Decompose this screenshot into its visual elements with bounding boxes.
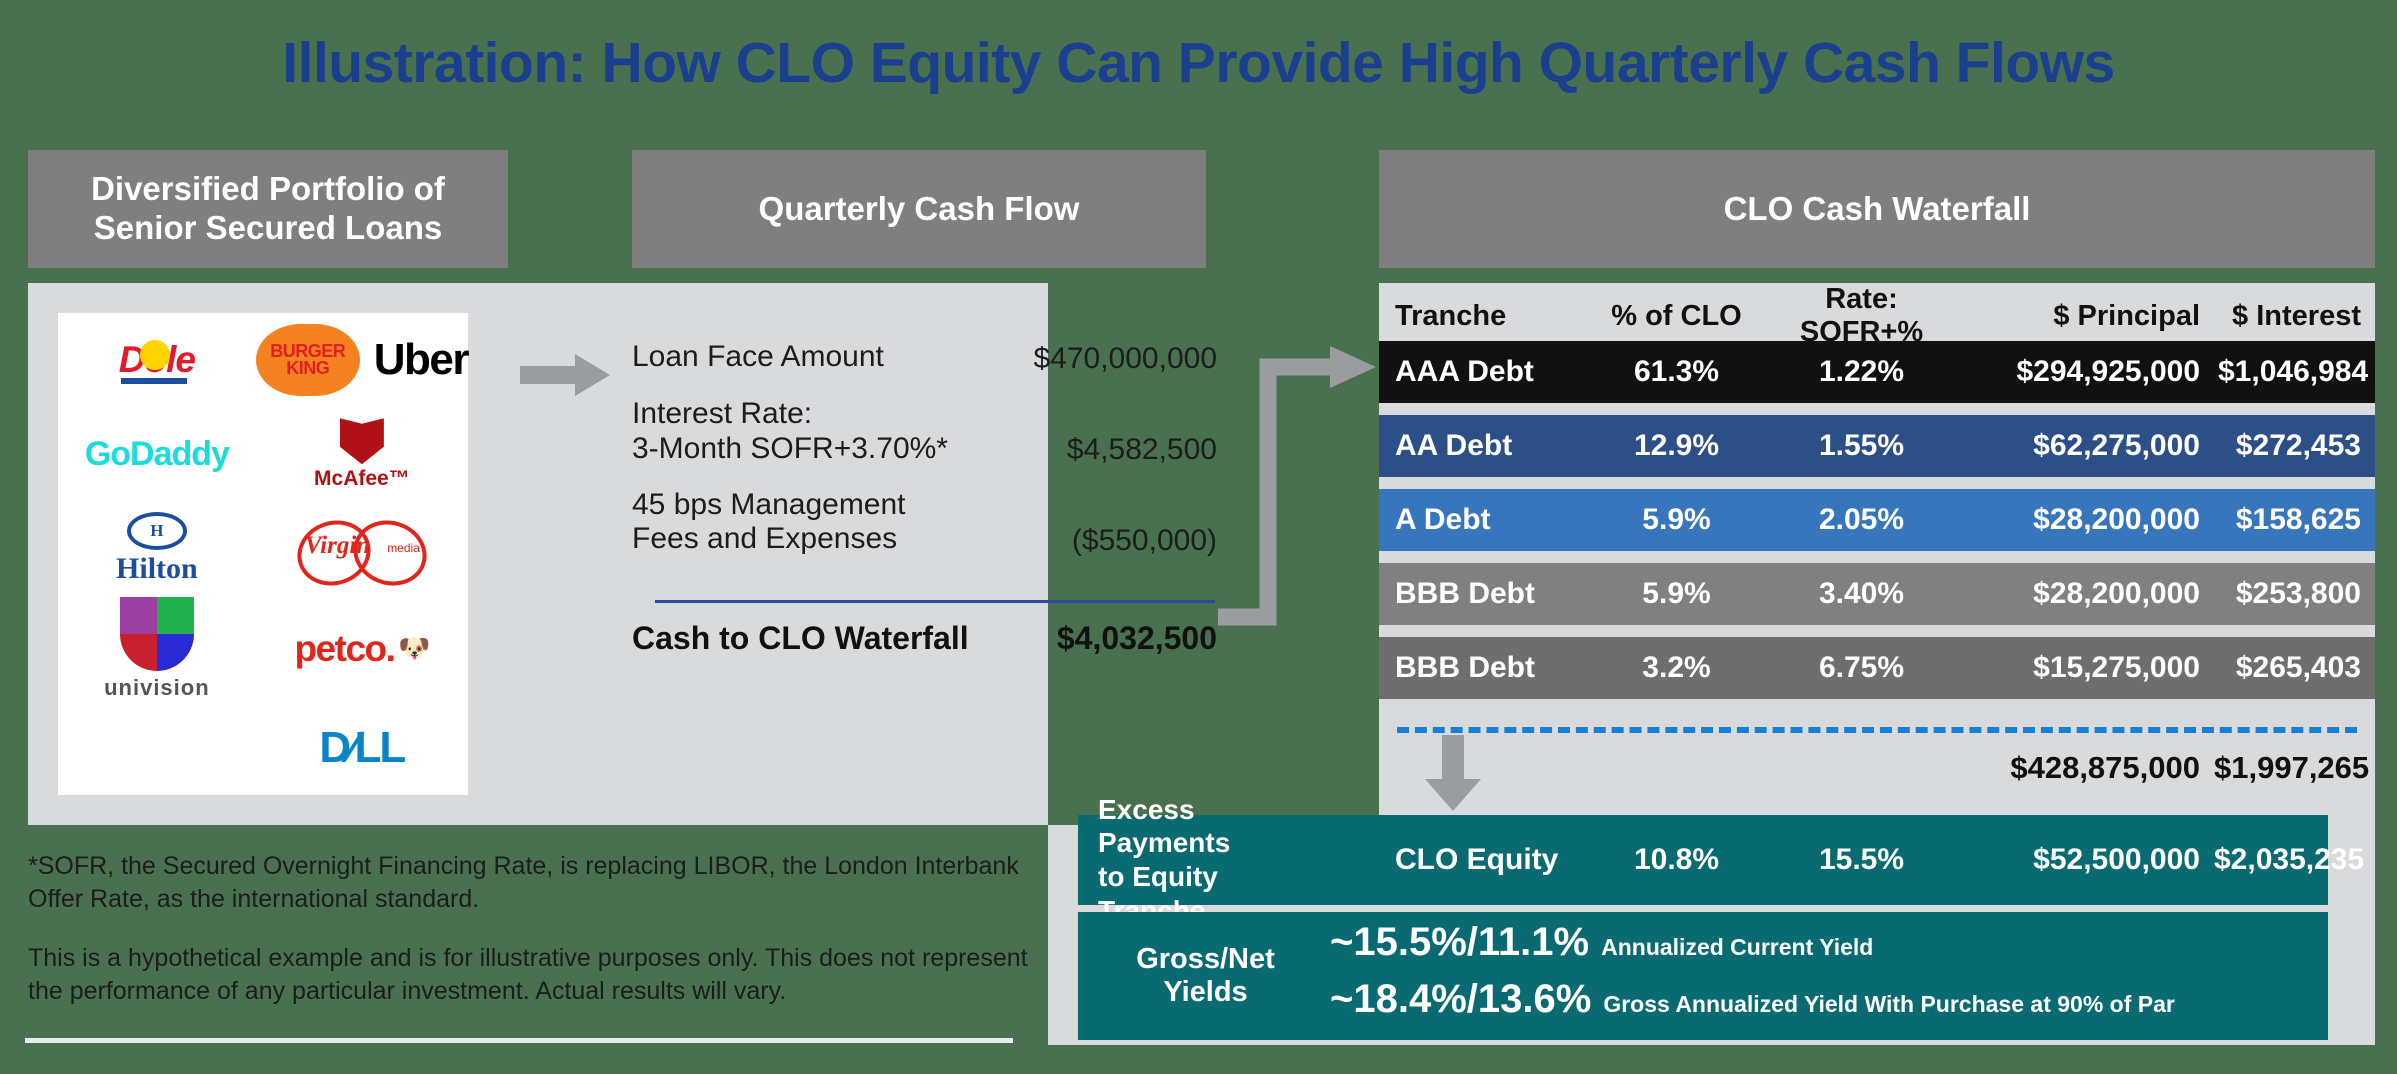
logo-collage: Dole BURGER KING Uber GoDaddy McAfee™ H … — [58, 313, 468, 795]
mcafee-logo: McAfee™ — [256, 408, 468, 503]
cashflow-label-2: Fees and Expenses — [632, 522, 897, 555]
column-header-rate: Rate: SOFR+% — [1759, 283, 1964, 349]
petco-logo: petco.🐶 — [256, 597, 468, 701]
footer-divider — [25, 1038, 1013, 1043]
equity-row: CLO Equity 10.8% 15.5% $52,500,000 $2,03… — [1379, 815, 2375, 905]
equity-cell-pct: 10.8% — [1594, 843, 1759, 877]
equity-cell-rate: 15.5% — [1759, 843, 1964, 877]
footnote-sofr: *SOFR, the Secured Overnight Financing R… — [28, 850, 1028, 916]
table-row: AA Debt 12.9% 1.55% $62,275,000 $272,453 — [1379, 415, 2375, 477]
equity-side-label: Excess Payments to Equity Tranche — [1098, 820, 1298, 900]
yield-value: ~18.4%/13.6% — [1330, 977, 1591, 1022]
totals-interest: $1,997,265 — [2214, 750, 2375, 786]
logo-spacer — [58, 701, 256, 796]
table-row: AAA Debt 61.3% 1.22% $294,925,000 $1,046… — [1379, 341, 2375, 403]
dole-sun-icon — [144, 344, 166, 366]
cell-principal: $28,200,000 — [1964, 503, 2214, 537]
cell-tranche: A Debt — [1379, 503, 1594, 537]
cashflow-total-row: Cash to CLO Waterfall $4,032,500 — [632, 620, 1217, 657]
table-row: BBB Debt 5.9% 3.40% $28,200,000 $253,800 — [1379, 563, 2375, 625]
mcafee-shield-icon — [340, 418, 384, 464]
cell-rate: 1.22% — [1759, 355, 1964, 389]
cell-pct: 3.2% — [1594, 651, 1759, 685]
dell-logo-label: D∕LL — [319, 723, 404, 773]
cell-tranche: AAA Debt — [1379, 355, 1594, 389]
page-title: Illustration: How CLO Equity Can Provide… — [0, 30, 2397, 96]
cell-principal: $294,925,000 — [1964, 355, 2214, 389]
yield-row: ~15.5%/11.1% Annualized Current Yield — [1330, 920, 2330, 965]
totals-principal: $428,875,000 — [1964, 750, 2214, 786]
petco-logo-label: petco. — [294, 628, 394, 670]
cashflow-label-2: 3-Month SOFR+3.70%* — [632, 432, 948, 465]
section-header-waterfall: CLO Cash Waterfall — [1379, 150, 2375, 268]
cashflow-value: $4,582,500 — [1067, 397, 1217, 468]
column-header-tranche: Tranche — [1379, 300, 1594, 333]
cell-principal: $62,275,000 — [1964, 429, 2214, 463]
cell-rate: 1.55% — [1759, 429, 1964, 463]
cell-interest: $158,625 — [2214, 503, 2375, 537]
yields-label: Gross/Net Yields — [1098, 912, 1313, 1040]
table-row: BBB Debt 3.2% 6.75% $15,275,000 $265,403 — [1379, 637, 2375, 699]
dole-bar-icon — [121, 378, 187, 384]
cell-principal: $15,275,000 — [1964, 651, 2214, 685]
cashflow-row: Loan Face Amount $470,000,000 — [632, 340, 1217, 377]
cell-rate: 3.40% — [1759, 577, 1964, 611]
godaddy-logo: GoDaddy — [58, 408, 256, 503]
cashflow-value: ($550,000) — [1072, 488, 1217, 559]
cell-tranche: BBB Debt — [1379, 577, 1594, 611]
totals-spacer-1 — [1379, 750, 1594, 786]
virgin-media-logo: Virgin media — [256, 502, 468, 597]
uber-logo: Uber — [374, 335, 468, 385]
dole-logo: Dole — [58, 313, 256, 408]
yield-value: ~15.5%/11.1% — [1330, 920, 1589, 965]
godaddy-logo-label: GoDaddy — [85, 435, 229, 474]
burger-king-logo: BURGER KING — [256, 324, 360, 396]
petco-pets-icon: 🐶 — [398, 633, 429, 664]
virgin-media-sublabel: media — [387, 541, 420, 555]
cashflow-label: Loan Face Amount — [632, 340, 884, 373]
cell-tranche: AA Debt — [1379, 429, 1594, 463]
cashflow-row: Interest Rate: 3-Month SOFR+3.70%* $4,58… — [632, 397, 1217, 468]
equity-side-label-line1: Excess Payments — [1098, 793, 1298, 860]
cashflow-total-value: $4,032,500 — [1057, 620, 1217, 657]
cell-pct: 12.9% — [1594, 429, 1759, 463]
yield-description: Annualized Current Yield — [1601, 934, 1873, 961]
hilton-logo: H Hilton — [58, 502, 256, 597]
waterfall-totals-row: $428,875,000 $1,997,265 — [1379, 750, 2375, 786]
cell-pct: 61.3% — [1594, 355, 1759, 389]
cashflow-value: $470,000,000 — [1033, 340, 1217, 377]
cell-interest: $265,403 — [2214, 651, 2375, 685]
hilton-logo-label: Hilton — [116, 552, 198, 586]
footnotes: *SOFR, the Secured Overnight Financing R… — [28, 850, 1028, 1034]
cell-interest: $272,453 — [2214, 429, 2375, 463]
equity-cell-principal: $52,500,000 — [1964, 843, 2214, 877]
header-portfolio-line2: Senior Secured Loans — [91, 209, 445, 248]
univision-logo-label: univision — [104, 675, 210, 701]
totals-spacer-3 — [1759, 750, 1964, 786]
column-header-interest: $ Interest — [2214, 300, 2375, 333]
equity-cell-tranche: CLO Equity — [1379, 843, 1594, 877]
cashflow-list: Loan Face Amount $470,000,000 Interest R… — [632, 340, 1217, 578]
dell-logo: D∕LL — [256, 701, 468, 796]
waterfall-table: Tranche % of CLO Rate: SOFR+% $ Principa… — [1379, 283, 2375, 711]
cell-pct: 5.9% — [1594, 503, 1759, 537]
section-header-portfolio: Diversified Portfolio of Senior Secured … — [28, 150, 508, 268]
burger-king-uber-group: BURGER KING Uber — [256, 313, 468, 408]
totals-spacer-2 — [1594, 750, 1759, 786]
cashflow-divider — [655, 600, 1215, 603]
arrow-portfolio-to-cashflow — [520, 350, 610, 405]
column-header-principal: $ Principal — [1964, 300, 2214, 333]
waterfall-header-row: Tranche % of CLO Rate: SOFR+% $ Principa… — [1379, 283, 2375, 341]
cell-interest: $1,046,984 — [2214, 355, 2375, 389]
equity-cell-interest: $2,035,235 — [2214, 843, 2375, 877]
cashflow-total-label: Cash to CLO Waterfall — [632, 620, 969, 657]
hilton-mark-icon: H — [127, 512, 187, 550]
table-row: A Debt 5.9% 2.05% $28,200,000 $158,625 — [1379, 489, 2375, 551]
cell-rate: 6.75% — [1759, 651, 1964, 685]
yield-description: Gross Annualized Yield With Purchase at … — [1603, 991, 2175, 1018]
cell-pct: 5.9% — [1594, 577, 1759, 611]
cell-interest: $253,800 — [2214, 577, 2375, 611]
header-portfolio-line1: Diversified Portfolio of — [91, 170, 445, 209]
column-header-pct: % of CLO — [1594, 300, 1759, 333]
mcafee-logo-label: McAfee™ — [314, 467, 410, 491]
virgin-logo-label: Virgin — [305, 532, 370, 560]
yield-row: ~18.4%/13.6% Gross Annualized Yield With… — [1330, 977, 2330, 1022]
burger-king-line2: KING — [286, 360, 329, 377]
cashflow-row: 45 bps Management Fees and Expenses ($55… — [632, 488, 1217, 559]
cell-rate: 2.05% — [1759, 503, 1964, 537]
univision-mark-icon — [120, 597, 194, 671]
cashflow-label: Interest Rate: — [632, 397, 812, 430]
cell-tranche: BBB Debt — [1379, 651, 1594, 685]
arrow-waterfall-to-equity — [1424, 735, 1482, 816]
section-header-cashflow: Quarterly Cash Flow — [632, 150, 1206, 268]
cell-principal: $28,200,000 — [1964, 577, 2214, 611]
footnote-disclaimer: This is a hypothetical example and is fo… — [28, 942, 1028, 1008]
waterfall-dashed-divider — [1397, 727, 2357, 733]
univision-logo: univision — [58, 597, 256, 701]
yields-rows: ~15.5%/11.1% Annualized Current Yield ~1… — [1330, 920, 2330, 1034]
arrow-cashflow-to-waterfall — [1218, 345, 1383, 650]
cashflow-label: 45 bps Management — [632, 488, 906, 521]
